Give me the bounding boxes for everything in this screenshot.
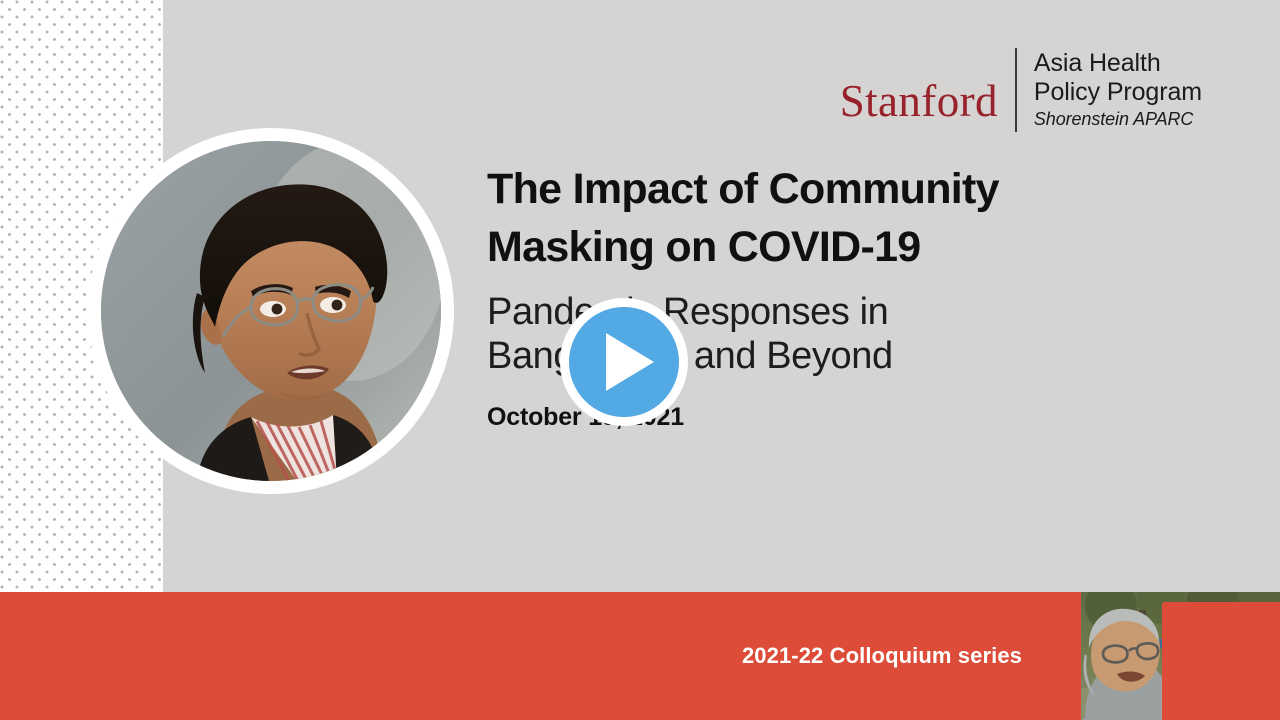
corner-diagonal-accent [1162,602,1280,720]
talk-title: The Impact of Community Masking on COVID… [487,160,1127,276]
stanford-aparc-logo: Stanford Asia Health Policy Program Shor… [840,44,1202,136]
video-thumbnail-slide: The Impact of Community Masking on COVID… [0,0,1280,720]
logo-program-text: Asia Health Policy Program Shorenstein A… [1017,49,1202,132]
logo-line-shorenstein-aparc: Shorenstein APARC [1034,107,1202,132]
bottom-banner: 2021-22 Colloquium series [0,592,1280,720]
play-button[interactable] [560,298,688,426]
stanford-wordmark: Stanford [840,79,1015,124]
colloquium-series-label: 2021-22 Colloquium series [0,592,1050,720]
play-button-disc [569,307,679,417]
logo-line-policy-program: Policy Program [1034,78,1202,107]
play-triangle-icon [606,333,654,391]
speaker-portrait-image [101,141,441,481]
logo-line-asia-health: Asia Health [1034,49,1202,78]
speaker-portrait-frame [88,128,454,494]
corner-red-stripe [1162,602,1280,720]
